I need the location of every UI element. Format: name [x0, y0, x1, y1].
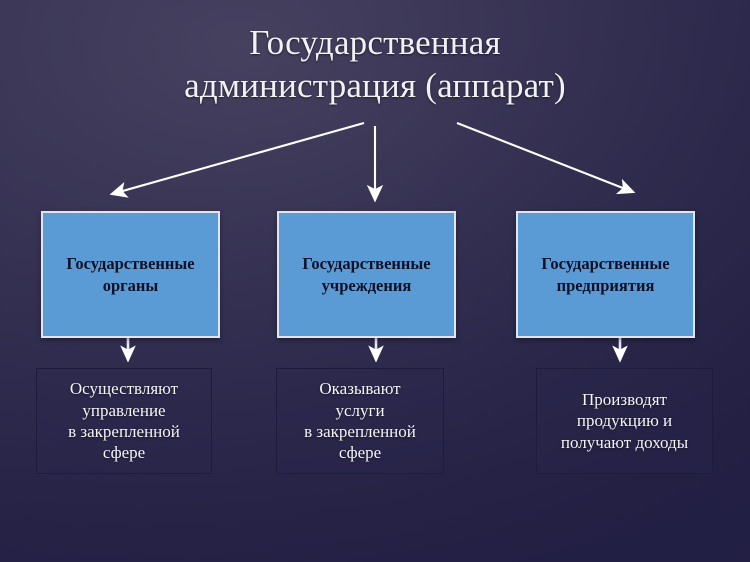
description-organy-line-2: управление	[60, 400, 188, 421]
description-organy-line-3: в закрепленной	[60, 421, 188, 442]
description-box-predpriyatiya: Производят продукцию и получают доходы	[536, 368, 713, 474]
slide-canvas: Государственная администрация (аппарат) …	[0, 0, 750, 562]
slide-title-line-1: Государственная	[90, 22, 660, 65]
description-uchrezhdeniya-line-3: сфере	[285, 442, 435, 463]
description-uchrezhdeniya-line-2: в закрепленной	[285, 421, 435, 442]
category-box-predpriyatiya-line-2: предприятия	[535, 275, 675, 296]
title-to-organy-arrow	[112, 123, 364, 194]
category-box-predpriyatiya[interactable]: Государственные предприятия	[516, 211, 695, 338]
description-box-uchrezhdeniya: Оказывают услуги в закрепленной сфере	[276, 368, 444, 474]
category-box-uchrezhdeniya-line-1: Государственные	[296, 253, 436, 274]
category-box-organy[interactable]: Государственные органы	[41, 211, 220, 338]
description-organy-line-4: сфере	[60, 442, 188, 463]
category-box-organy-label: Государственные органы	[54, 253, 206, 296]
description-box-predpriyatiya-text: Производят продукцию и получают доходы	[545, 389, 704, 453]
description-predpriyatiya-line-1: Производят	[553, 389, 696, 410]
category-box-predpriyatiya-line-1: Государственные	[535, 253, 675, 274]
category-box-uchrezhdeniya-line-2: учреждения	[296, 275, 436, 296]
category-box-organy-line-2: органы	[60, 275, 200, 296]
description-predpriyatiya-line-3: получают доходы	[553, 432, 696, 453]
description-box-uchrezhdeniya-text: Оказывают услуги в закрепленной сфере	[277, 378, 443, 464]
category-box-predpriyatiya-label: Государственные предприятия	[529, 253, 681, 296]
category-box-organy-line-1: Государственные	[60, 253, 200, 274]
description-organy-line-1: Осуществляют	[60, 378, 188, 399]
description-uchrezhdeniya-line-1: Оказывают услуги	[285, 378, 435, 421]
title-to-predpriyatiya-arrow	[457, 123, 633, 192]
slide-title-line-2: администрация (аппарат)	[90, 65, 660, 108]
description-box-organy-text: Осуществляют управление в закрепленной с…	[52, 378, 196, 464]
category-box-uchrezhdeniya-label: Государственные учреждения	[290, 253, 442, 296]
description-box-organy: Осуществляют управление в закрепленной с…	[36, 368, 212, 474]
description-predpriyatiya-line-2: продукцию и	[553, 410, 696, 431]
category-box-uchrezhdeniya[interactable]: Государственные учреждения	[277, 211, 456, 338]
slide-title: Государственная администрация (аппарат)	[90, 22, 660, 107]
